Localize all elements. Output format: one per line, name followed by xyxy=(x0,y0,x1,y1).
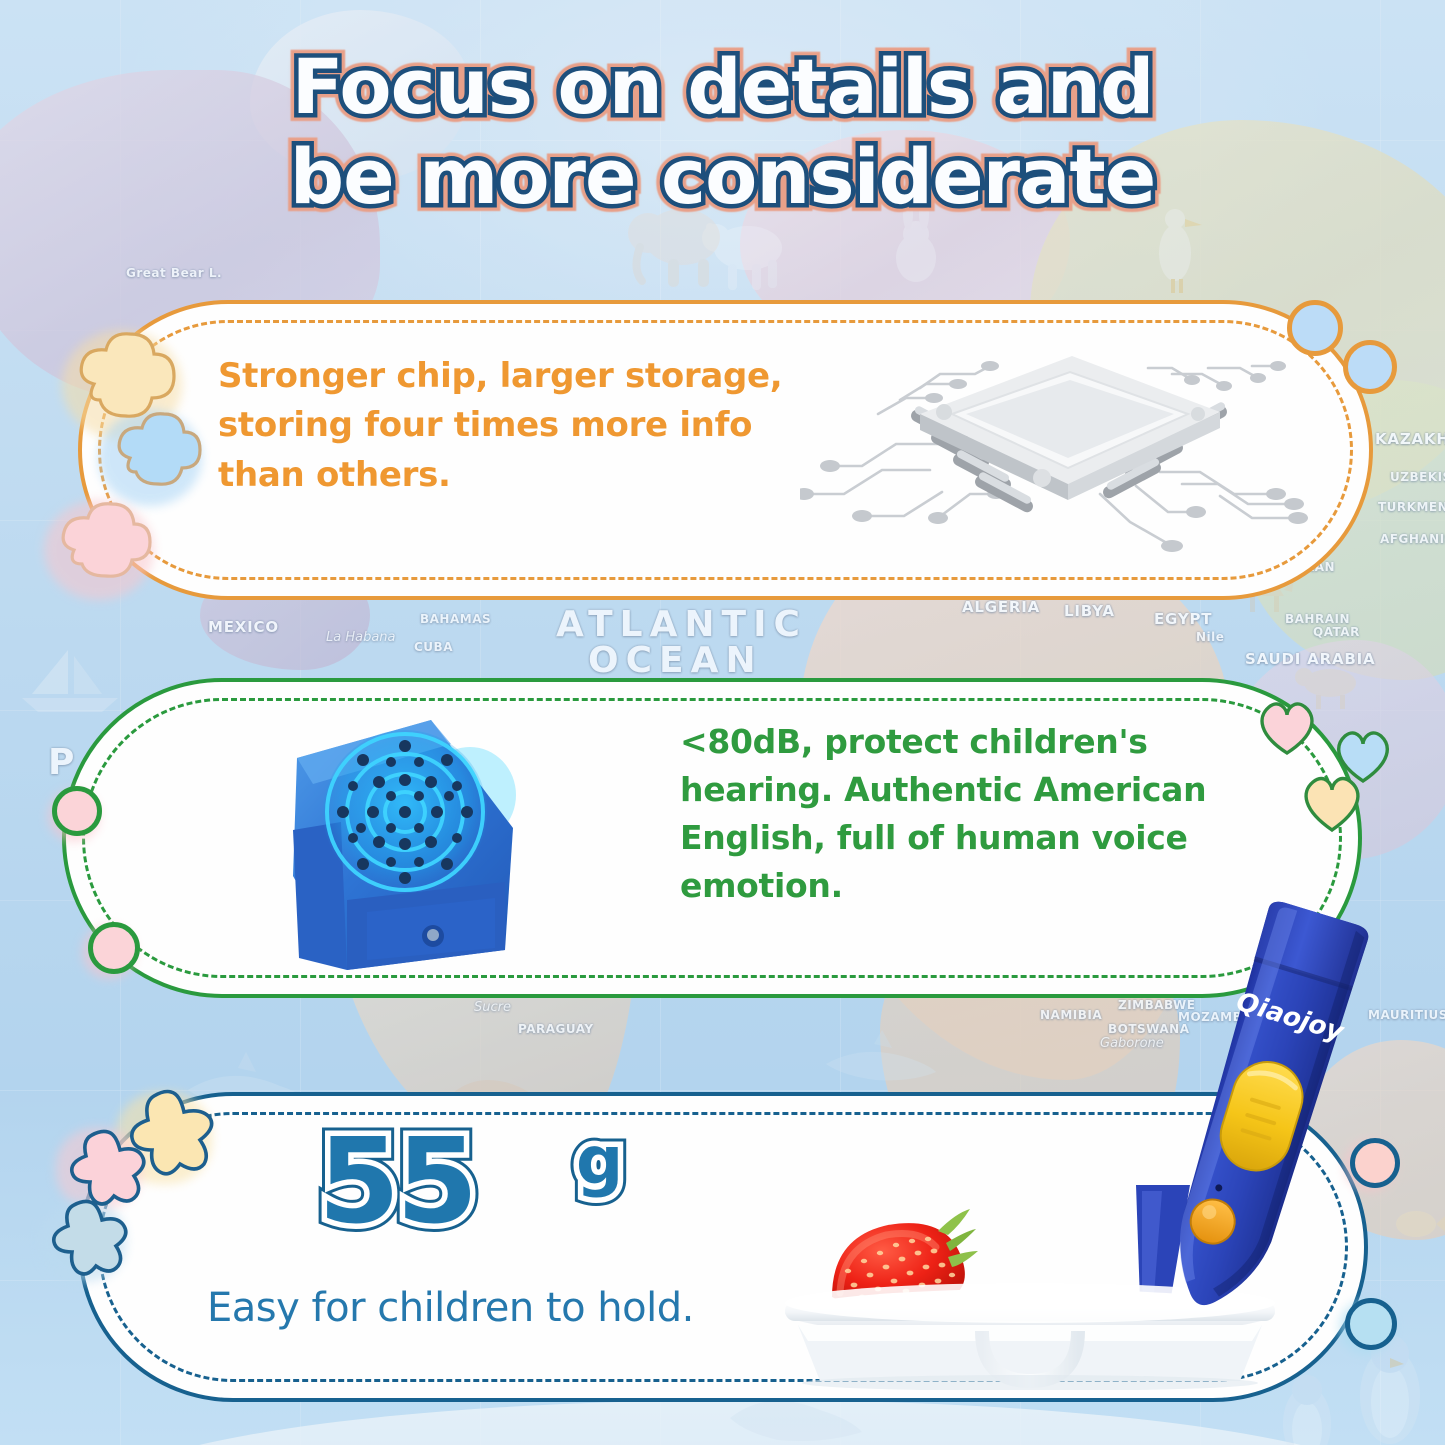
product-pen-photo: Qiaojoy xyxy=(1110,900,1390,1340)
circle-blue-2 xyxy=(1343,340,1397,394)
map-label: SAUDI ARABIA xyxy=(1245,650,1375,668)
page-title: Focus on details and Focus on details an… xyxy=(0,44,1445,224)
map-label: BAHRAIN xyxy=(1285,612,1350,626)
map-label: LIBYA xyxy=(1064,602,1115,620)
feature-card-weight-caption: Easy for children to hold. xyxy=(207,1285,694,1331)
cloud-blob-blue-icon xyxy=(104,404,212,504)
map-label: ATLANTIC xyxy=(556,604,807,645)
map-label: PARAGUAY xyxy=(518,1022,594,1036)
map-label: ALGERIA xyxy=(962,598,1040,616)
cloud-blob-pink-icon xyxy=(48,494,160,598)
weight-unit-bubble: g g g xyxy=(576,1128,623,1194)
map-label: TURKMENISTAN xyxy=(1378,500,1445,514)
map-label: BAHAMAS xyxy=(420,612,491,626)
circle-blue-1 xyxy=(1287,300,1343,356)
shark-icon xyxy=(820,1030,940,1090)
map-label: Great Bear L. xyxy=(126,266,222,280)
sailboat-icon xyxy=(10,640,130,720)
heart-yellow-icon xyxy=(1297,770,1367,836)
circle-pink-1 xyxy=(52,786,102,836)
map-label: AFGHANISTAN xyxy=(1380,532,1445,546)
map-label: UZBEKISTAN xyxy=(1390,470,1445,484)
map-label: NAMIBIA xyxy=(1040,1008,1102,1022)
map-label: MEXICO xyxy=(208,618,279,636)
map-label: CUBA xyxy=(414,640,453,654)
fish-icon xyxy=(1390,1200,1445,1248)
circle-pink-2 xyxy=(88,922,140,974)
map-label: Nile xyxy=(1196,630,1224,644)
page-title-line1: Focus on details and xyxy=(0,44,1445,129)
speaker-module-photo xyxy=(255,700,555,990)
product-infographic: ATLANTICOCEANMEXICOLa HabanaCUBABAHAMASG… xyxy=(0,0,1445,1445)
star-blue-icon xyxy=(44,1194,136,1282)
map-label: Sucre xyxy=(474,1000,511,1015)
microchip-photo xyxy=(800,326,1340,576)
map-label: EGYPT xyxy=(1154,610,1212,628)
heart-pink-icon xyxy=(1253,695,1321,759)
map-label: OCEAN xyxy=(588,640,763,681)
weight-number-bubble: 55 55 55 xyxy=(318,1122,474,1240)
map-label: QATAR xyxy=(1313,625,1360,639)
weight-value-display: 55 55 55 g g g xyxy=(318,1122,474,1240)
weight-number: 55 xyxy=(318,1122,474,1240)
map-label: KAZAKHSTAN xyxy=(1375,430,1445,448)
page-title-line2: be more considerate xyxy=(0,134,1445,219)
feature-card-audio-text: <80dB, protect children's hearing. Authe… xyxy=(680,718,1260,909)
weight-unit: g xyxy=(576,1128,623,1194)
map-label: La Habana xyxy=(326,630,396,645)
feature-card-chip-text: Stronger chip, larger storage, storing f… xyxy=(218,352,818,500)
